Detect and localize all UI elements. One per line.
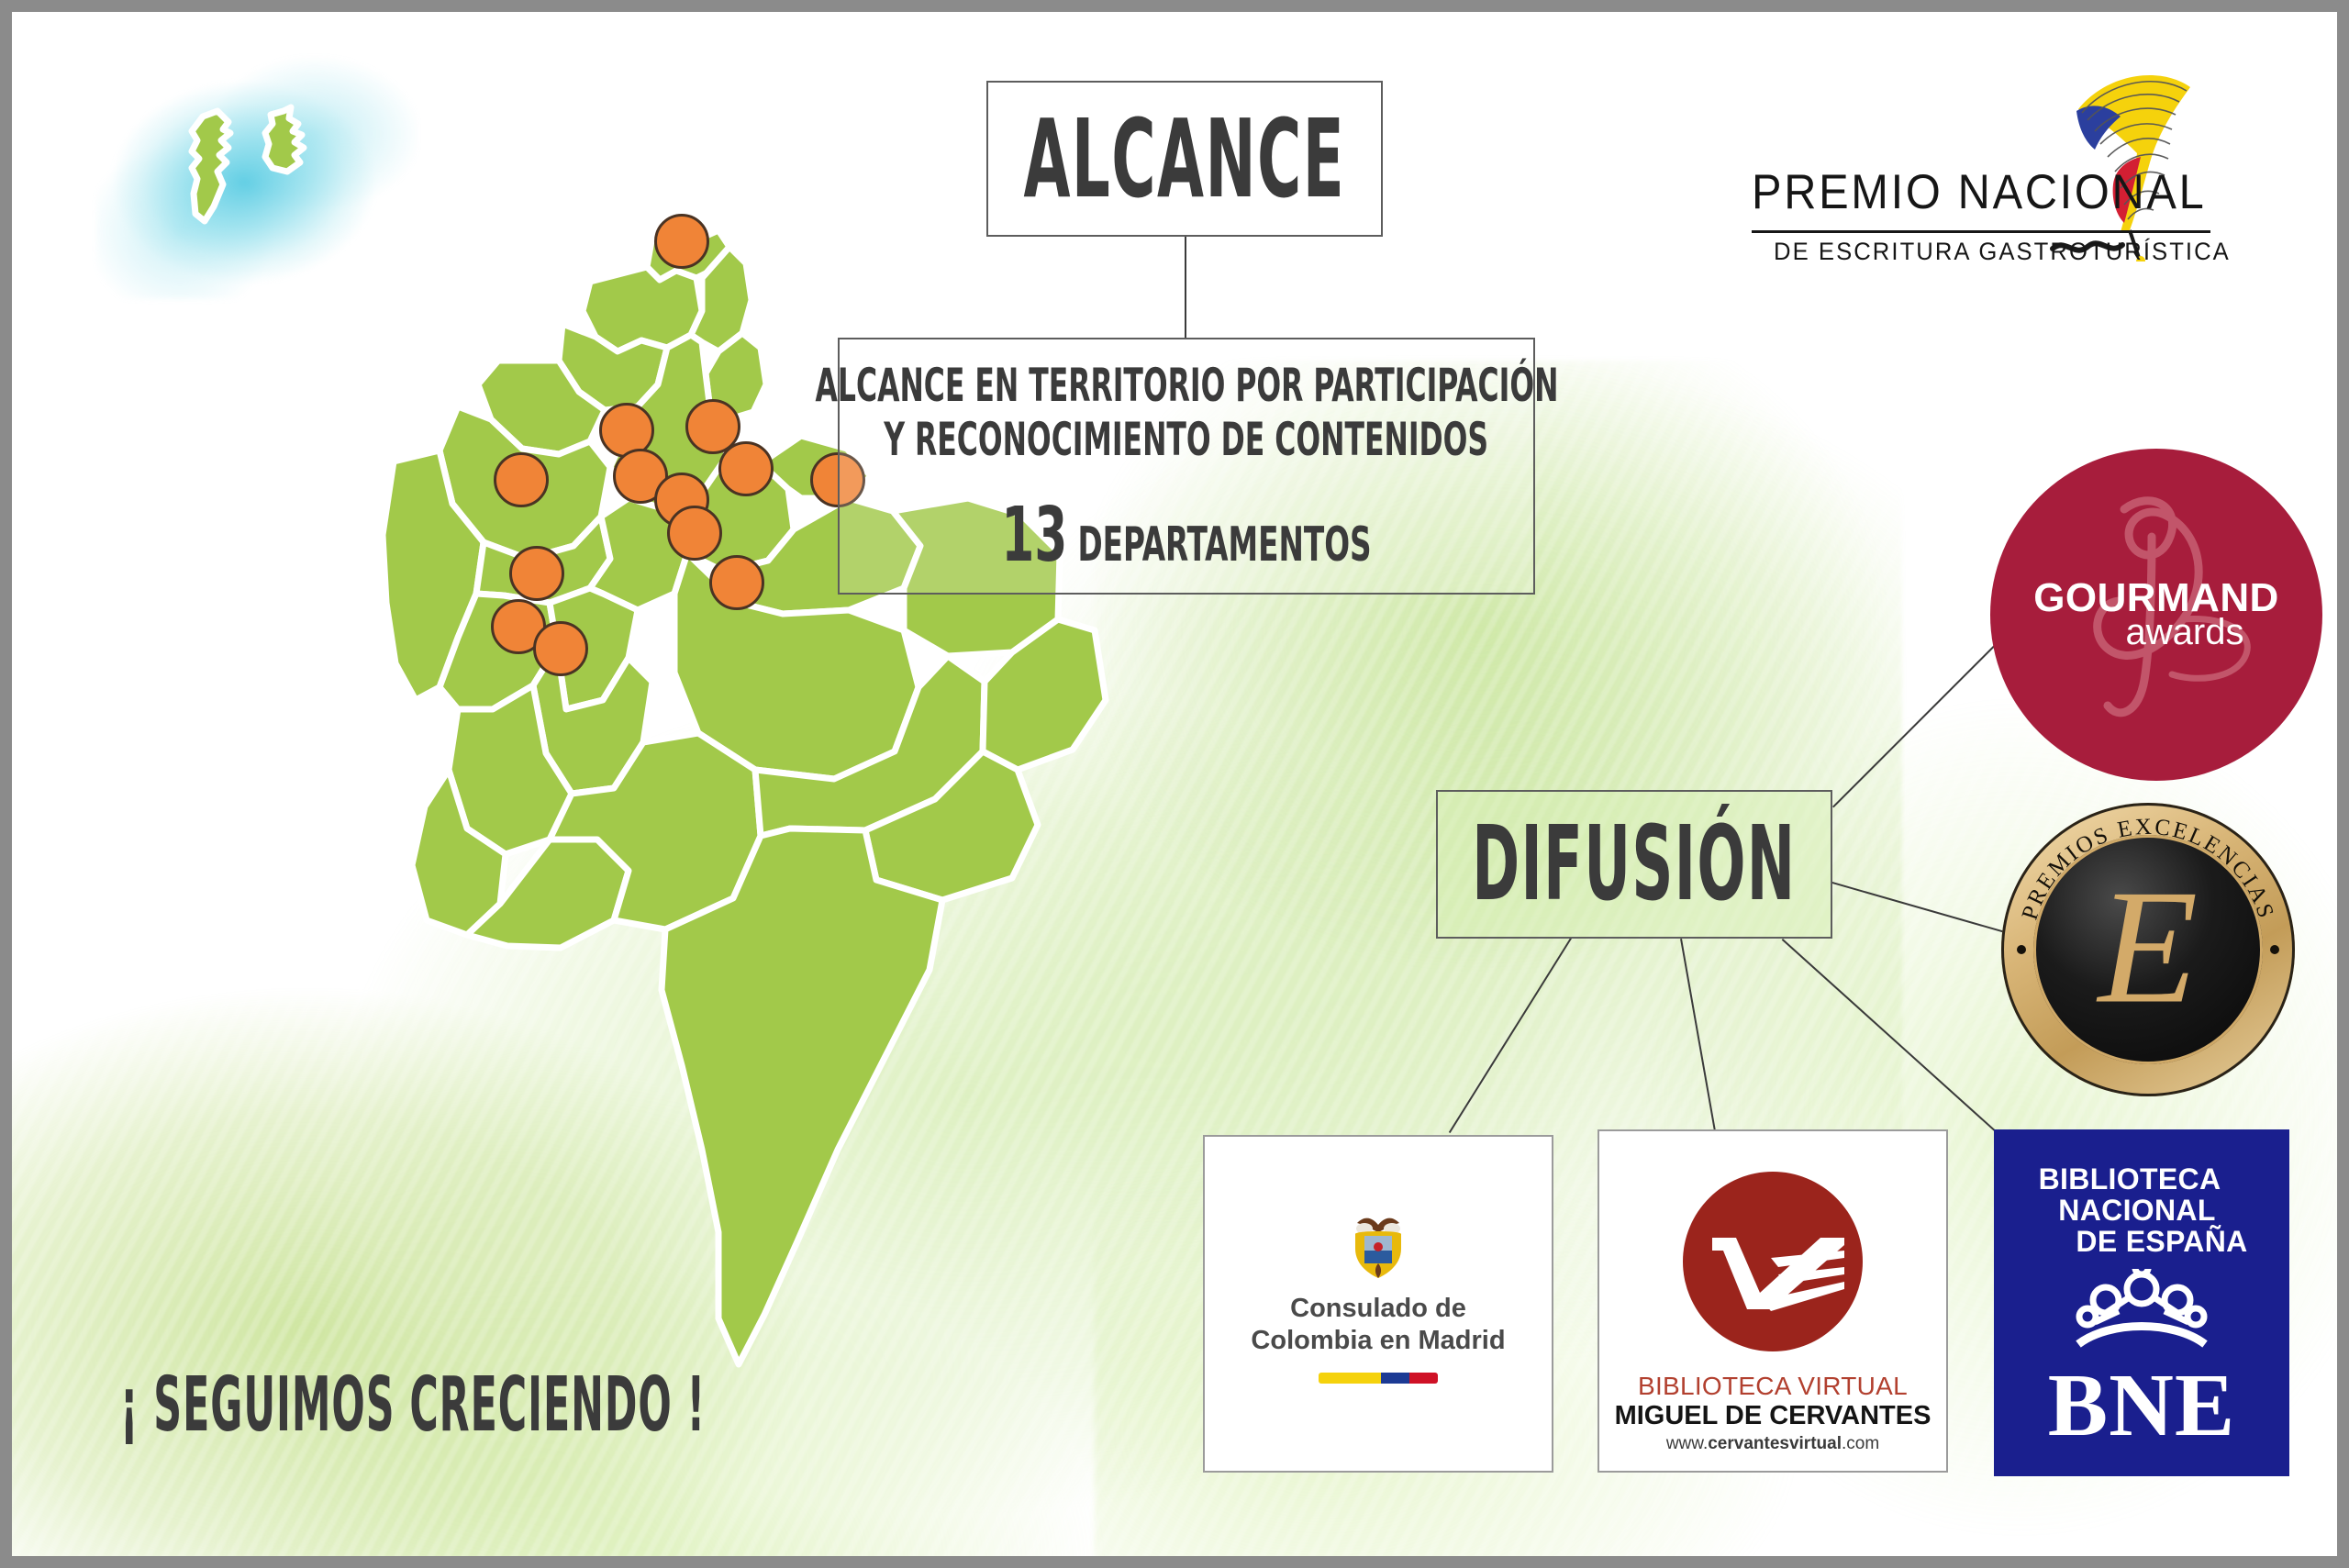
map-marker <box>494 452 549 507</box>
premio-nacional-line1: PREMIO NACIONAL <box>1752 164 2206 220</box>
connector-difusion-excelencias <box>1831 882 2017 937</box>
alcance-title-box: ALCANCE <box>986 81 1383 237</box>
premios-excelencias-seal: PREMIOS EXCELENCIAS GRUPO EXCELENCIAS E <box>2001 803 2295 1096</box>
premio-nacional-rule <box>1752 230 2210 233</box>
bne-line1: BIBLIOTECA <box>1994 1162 2289 1196</box>
cervantes-url-post: .com <box>1842 1434 1879 1453</box>
cervantes-line1: BIBLIOTECA VIRTUAL <box>1599 1372 1946 1401</box>
departments-count-number: 13 <box>1001 498 1067 573</box>
tagline-text: ¡ SEGUIMOS CRECIENDO ! <box>120 1368 706 1443</box>
cervantes-circle-mark <box>1683 1172 1863 1351</box>
excelencias-monogram: E <box>2033 864 2263 1028</box>
connector-difusion-cervantes <box>1680 939 1717 1138</box>
map-marker <box>667 506 722 561</box>
departments-count-row: 13 DEPARTAMENTOS <box>1001 498 1371 573</box>
gourmand-awards-logo: GOURMAND awards <box>1990 482 2322 748</box>
cervantes-line2: MIGUEL DE CERVANTES <box>1599 1401 1946 1431</box>
cervantes-url-mid: cervantesvirtual <box>1708 1434 1842 1453</box>
colombia-coat-of-arms-icon <box>1344 1208 1412 1285</box>
gourmand-awards-word: awards <box>1990 612 2322 653</box>
premio-nacional-logo: PREMIO NACIONAL DE ESCRITURA GASTROTURÍS… <box>1737 76 2251 260</box>
departments-count-label: DEPARTAMENTOS <box>1077 521 1371 569</box>
gourmand-circle: GOURMAND awards <box>1990 449 2322 781</box>
alcance-desc-line-2: Y RECONOCIMIENTO DE CONTENIDOS <box>885 413 1489 467</box>
cervantes-url: www.cervantesvirtual.com <box>1599 1434 1946 1454</box>
map-marker <box>654 214 709 269</box>
connector-alcance <box>1185 237 1186 339</box>
alcance-title-text: ALCANCE <box>1024 105 1346 213</box>
map-marker <box>718 441 774 496</box>
alcance-desc-line-1: ALCANCE EN TERRITORIO POR PARTICIPACIÓN <box>815 359 1558 413</box>
biblioteca-cervantes-card: BIBLIOTECA VIRTUAL MIGUEL DE CERVANTES w… <box>1598 1129 1948 1473</box>
bne-line2: NACIONAL <box>1994 1194 2289 1228</box>
tagline: ¡ SEGUIMOS CRECIENDO ! <box>120 1368 1130 1443</box>
connector-difusion-consulado <box>1449 938 1572 1133</box>
consulado-line1: Consulado de <box>1205 1293 1552 1325</box>
map-marker <box>709 555 764 610</box>
difusion-title-box: DIFUSIÓN <box>1436 790 1832 939</box>
connector-difusion-bne <box>1782 939 1996 1131</box>
consulado-line2: Colombia en Madrid <box>1205 1325 1552 1357</box>
biblioteca-nacional-espana-card: BIBLIOTECA NACIONAL DE ESPAÑA BNE <box>1994 1129 2289 1476</box>
infographic-canvas: ALCANCE ALCANCE EN TERRITORIO POR PARTIC… <box>0 0 2349 1568</box>
bne-wordmark: BNE <box>1994 1361 2289 1451</box>
colombia-flag-bar <box>1319 1373 1438 1384</box>
excelencias-black-core: E <box>2033 835 2263 1064</box>
map-marker <box>509 546 564 601</box>
cervantes-url-pre: www. <box>1666 1434 1708 1453</box>
alcance-description-box: ALCANCE EN TERRITORIO POR PARTICIPACIÓN … <box>838 338 1535 595</box>
premio-nacional-line2: DE ESCRITURA GASTROTURÍSTICA <box>1774 238 2231 266</box>
cervantes-wing-icon <box>1683 1172 1863 1351</box>
royal-crown-icon <box>2064 1269 2220 1357</box>
bne-line3: DE ESPAÑA <box>1994 1225 2289 1259</box>
consulado-colombia-card: Consulado de Colombia en Madrid <box>1203 1135 1553 1473</box>
difusion-title-text: DIFUSIÓN <box>1472 813 1796 916</box>
map-marker <box>533 621 588 676</box>
